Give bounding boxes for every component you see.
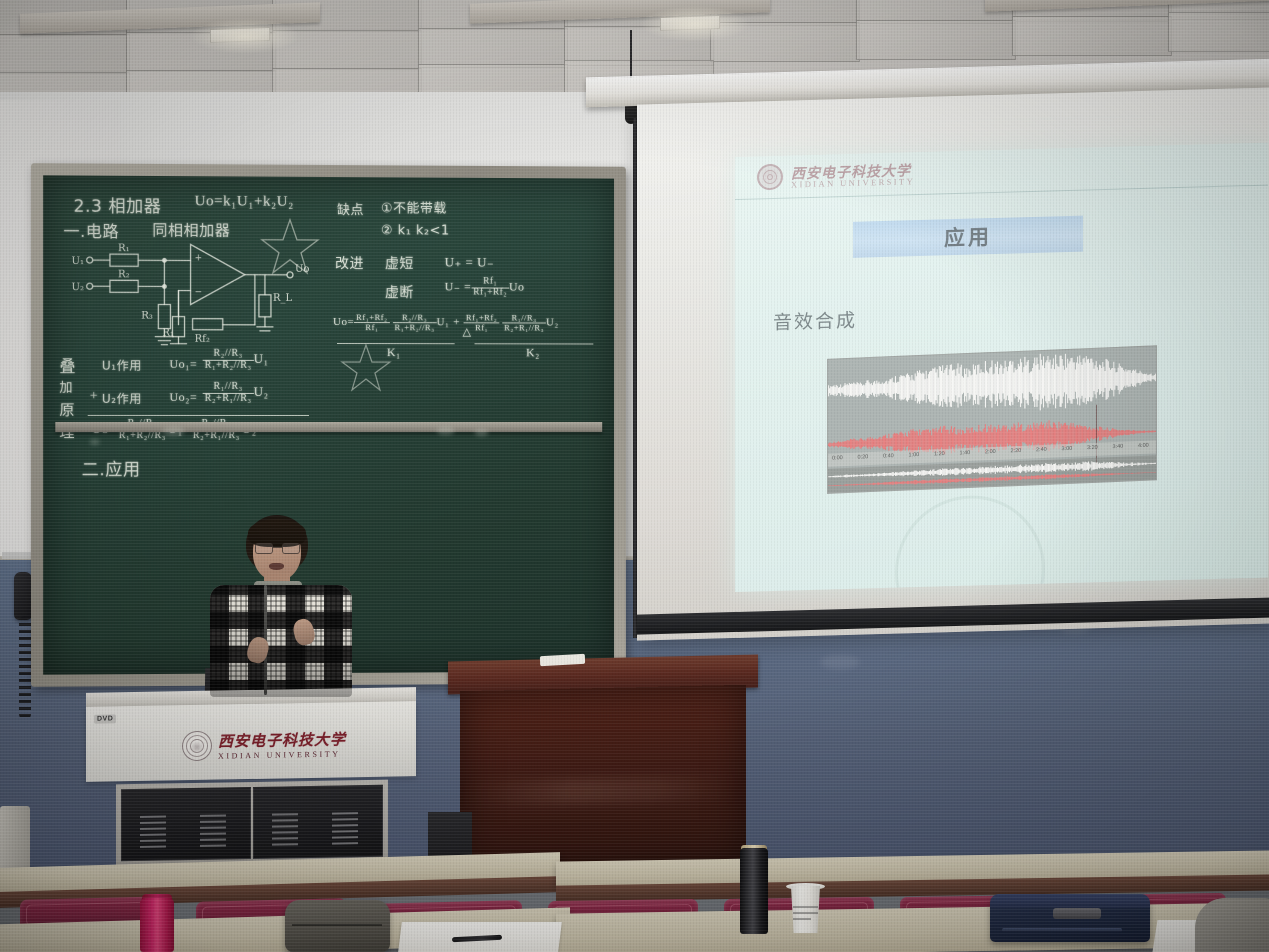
drawback-item-2: ② k₁ k₂<1 <box>381 223 450 238</box>
timeline-tick-label: 1:20 <box>934 451 945 457</box>
circuit-label-input1: U₁ <box>72 256 85 267</box>
university-seal-icon <box>757 164 783 191</box>
wall-phone-icon[interactable] <box>14 572 32 620</box>
drawback-label: 缺点 <box>337 199 364 218</box>
timeline-tick-label: 2:40 <box>1036 447 1047 453</box>
gray-backpack[interactable] <box>285 900 390 952</box>
lecture-hall-photo: 2.3 相加器 Uo=k₁U₁+k₂U₂ 一.电路 同相相加器 <box>0 0 1269 952</box>
timeline-tick-label: 2:20 <box>1011 448 1022 454</box>
timeline-tick-label: 0:00 <box>832 455 843 461</box>
superposition-row-result-label: Uo₁= <box>169 357 197 372</box>
frac-den: R₂+R₁//R₃ <box>191 431 242 442</box>
superposition-row-fraction: R₁//R₃R₂+R₁//R₃U₂ <box>203 382 269 404</box>
podium-front-panel: DVD 西安电子科技大学 XIDIAN UNIVERSITY <box>86 701 416 782</box>
frac-tail: Uo <box>509 280 525 294</box>
vo-label: U₋ = <box>445 279 472 293</box>
final-label: Uo= <box>333 316 354 328</box>
frac-den: R₁+R₂//R₃ <box>117 431 168 442</box>
cabinet-door[interactable] <box>253 785 383 859</box>
waveform-track-1 <box>828 348 1156 419</box>
projected-slide: 西安电子科技大学 XIDIAN UNIVERSITY 应用 音效合成 <box>735 143 1268 592</box>
podium-cabinet <box>116 780 388 867</box>
projector-screen: 西安电子科技大学 XIDIAN UNIVERSITY 应用 音效合成 <box>637 87 1269 640</box>
frac-den: R₂+R₁//R₃ <box>502 323 546 332</box>
podium-brand-cn: 西安电子科技大学 <box>218 728 346 751</box>
lecturer <box>196 515 366 695</box>
circuit-label-r2: R₂ <box>118 269 130 280</box>
timeline-tick-label: 0:40 <box>883 453 894 459</box>
frac-den: Rf₁ <box>354 323 389 332</box>
plus-sign: + <box>90 389 98 405</box>
frac-tail: U₁ <box>437 316 450 328</box>
chalk-star-icon <box>340 342 392 392</box>
wall-sign <box>2 552 32 559</box>
slide-header: 西安电子科技大学 XIDIAN UNIVERSITY <box>735 143 1268 197</box>
drawback-item-1: ①不能带载 <box>381 197 447 216</box>
superposition-row-cause: U₂作用 <box>102 390 142 407</box>
virtual-short-equation: U₊ = U₋ <box>445 254 495 270</box>
podium-brand-en: XIDIAN UNIVERSITY <box>218 749 346 760</box>
presenter-remote[interactable] <box>1053 908 1101 919</box>
virtual-open-label: 虚断 <box>385 282 414 302</box>
laptop-bag-flap <box>990 894 1150 908</box>
superposition-row-cause: U₁作用 <box>102 357 142 374</box>
pink-thermos[interactable] <box>140 898 174 952</box>
frac-tail: U₁ <box>254 351 269 366</box>
superposition-char-2: 加 <box>59 377 73 396</box>
final-plus: + <box>453 316 460 328</box>
slide-title: 应用 <box>944 221 992 252</box>
plaid-jacket <box>210 585 352 697</box>
circuit-label-r1: R₁ <box>118 243 130 254</box>
slide-subtitle: 音效合成 <box>773 306 857 335</box>
podium-control-badge[interactable]: DVD <box>94 714 116 723</box>
trash-bin <box>0 806 30 872</box>
improve-label: 改进 <box>335 253 364 273</box>
superposition-row-result-label: Uo₂= <box>169 390 197 405</box>
superposition-row-fraction: R₂//R₃R₁+R₂//R₃U₁ <box>203 349 269 371</box>
frac-tail: U₂ <box>254 384 269 399</box>
podium-branding: 西安电子科技大学 XIDIAN UNIVERSITY <box>182 720 382 769</box>
lower-section-heading: 二.应用 <box>82 455 141 480</box>
wooden-lectern <box>448 658 758 870</box>
chalk-star-icon <box>260 217 320 275</box>
frac-den: R₁+R₂//R₃ <box>203 360 254 371</box>
timeline-tick-label: 2:00 <box>985 449 996 455</box>
timeline-tick-label: 1:40 <box>960 450 971 456</box>
timeline-tick-label: 1:00 <box>909 452 920 458</box>
timeline-tick-label: 3:00 <box>1062 446 1073 452</box>
frac-tail: U₂ <box>546 317 559 329</box>
slide-watermark <box>895 494 1045 592</box>
opamp-minus: − <box>195 288 203 298</box>
board-section-formula: Uo=k₁U₁+k₂U₂ <box>195 193 294 211</box>
university-seal-icon <box>182 731 212 762</box>
black-thermos[interactable] <box>740 848 768 934</box>
circuit-label-r4: R₁ <box>162 328 174 339</box>
frac-den: R₁+R₂//R₃ <box>393 323 437 332</box>
circuit-label-rf2: Rf₂ <box>195 334 210 345</box>
final-equation: Uo=Rf₁+Rf₂Rf₁R₂//R₃R₁+R₂//R₃U₁+Rf₁+Rf₂Rf… <box>333 313 559 332</box>
slide-title-box: 应用 <box>853 216 1083 258</box>
audio-waveform-panel: 0:000:200:401:001:201:402:002:202:403:00… <box>827 345 1157 494</box>
board-section-heading: 2.3 相加器 <box>74 192 162 218</box>
chalk-rail <box>55 422 602 432</box>
laptop-bag-zipper <box>1002 928 1122 932</box>
k1-brace-label: K₁ <box>387 345 401 360</box>
circuit-label-r3: R₃ <box>141 311 153 322</box>
virtual-short-label: 虚短 <box>385 253 414 273</box>
paper-cup[interactable] <box>789 886 822 933</box>
frac-den: R₂+R₁//R₃ <box>203 394 254 405</box>
circuit-label-load: R_L <box>273 293 293 304</box>
superposition-char-3: 原 <box>59 399 75 420</box>
slide-logo-en: XIDIAN UNIVERSITY <box>791 176 915 189</box>
glasses-icon <box>255 543 300 555</box>
mouth <box>269 563 284 570</box>
timeline-tick-label: 0:20 <box>858 454 869 460</box>
phone-cord <box>19 616 31 720</box>
delta-symbol: △ <box>463 325 472 338</box>
timeline-tick-label: 3:40 <box>1113 444 1124 450</box>
frac-num: R₂//R₃ <box>203 349 254 361</box>
timeline-tick-label: 4:00 <box>1138 443 1149 449</box>
virtual-open-equation: U₋ =Rf₁Rf₁+Rf₂Uo <box>445 277 525 298</box>
frac-num: R₁//R₃ <box>203 382 254 394</box>
circuit-label-input2: U₂ <box>72 282 85 293</box>
opamp-plus: + <box>195 253 203 263</box>
student-shoulder <box>1195 898 1269 952</box>
frac-den: Rf₁+Rf₂ <box>471 288 509 298</box>
k2-brace-label: K₂ <box>526 345 540 360</box>
cabinet-door[interactable] <box>121 787 251 861</box>
bag-seam <box>292 924 382 926</box>
lecture-podium: DVD 西安电子科技大学 XIDIAN UNIVERSITY <box>86 690 416 875</box>
timeline-tick-label: 3:20 <box>1087 445 1098 451</box>
superposition-char-1: 叠 <box>59 353 76 377</box>
